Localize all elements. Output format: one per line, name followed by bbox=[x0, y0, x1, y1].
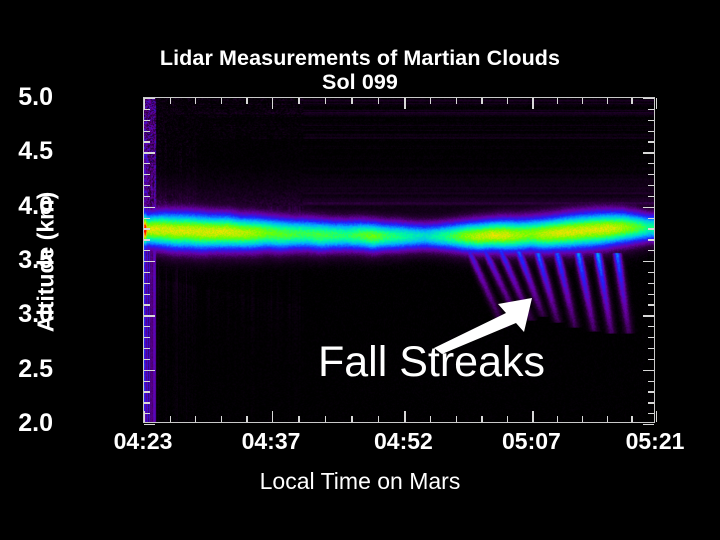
axis-tick bbox=[456, 416, 457, 422]
axis-tick bbox=[607, 98, 608, 104]
y-tick-label: 4.5 bbox=[18, 139, 53, 164]
axis-tick bbox=[648, 294, 654, 295]
axis-tick bbox=[221, 416, 222, 422]
axis-tick bbox=[195, 416, 196, 422]
axis-tick bbox=[246, 98, 247, 104]
axis-tick bbox=[656, 411, 657, 422]
axis-tick bbox=[456, 98, 457, 104]
axis-tick bbox=[144, 261, 155, 262]
axis-tick bbox=[144, 163, 150, 164]
figure-canvas: Lidar Measurements of Martian Clouds Sol… bbox=[0, 0, 720, 540]
axis-tick bbox=[144, 359, 150, 360]
axis-tick bbox=[557, 98, 558, 104]
axis-tick bbox=[643, 370, 654, 371]
axis-tick bbox=[648, 196, 654, 197]
axis-tick bbox=[144, 207, 155, 208]
axis-tick bbox=[648, 218, 654, 219]
axis-tick bbox=[144, 272, 150, 273]
axis-tick bbox=[656, 98, 657, 109]
axis-tick bbox=[582, 416, 583, 422]
fall-streaks-annotation-label: Fall Streaks bbox=[318, 341, 545, 384]
axis-tick bbox=[481, 416, 482, 422]
axis-tick bbox=[648, 413, 654, 414]
axis-tick bbox=[325, 416, 326, 422]
x-tick-label: 04:52 bbox=[343, 430, 463, 453]
axis-tick bbox=[272, 98, 273, 109]
axis-tick bbox=[298, 416, 299, 422]
axis-tick bbox=[144, 337, 150, 338]
y-tick-label: 4.0 bbox=[18, 194, 53, 219]
axis-tick bbox=[246, 416, 247, 422]
axis-tick bbox=[648, 402, 654, 403]
axis-tick bbox=[144, 131, 150, 132]
axis-tick bbox=[557, 416, 558, 422]
axis-tick bbox=[144, 218, 150, 219]
axis-tick bbox=[532, 98, 533, 109]
axis-tick bbox=[582, 98, 583, 104]
axis-tick bbox=[648, 272, 654, 273]
axis-tick bbox=[643, 152, 654, 153]
axis-tick bbox=[607, 416, 608, 422]
axis-tick bbox=[144, 228, 150, 229]
x-tick-label: 04:37 bbox=[211, 430, 331, 453]
axis-tick bbox=[144, 326, 150, 327]
axis-tick bbox=[144, 196, 150, 197]
axis-tick bbox=[404, 411, 405, 422]
axis-tick bbox=[144, 315, 155, 316]
axis-tick bbox=[144, 381, 150, 382]
axis-tick bbox=[144, 424, 155, 425]
axis-tick bbox=[631, 98, 632, 104]
axis-tick bbox=[378, 98, 379, 104]
axis-tick bbox=[643, 98, 654, 99]
axis-tick bbox=[144, 283, 150, 284]
axis-tick bbox=[532, 411, 533, 422]
axis-tick bbox=[144, 370, 155, 371]
x-tick-label: 04:23 bbox=[83, 430, 203, 453]
axis-tick bbox=[351, 416, 352, 422]
axis-tick bbox=[144, 391, 150, 392]
axis-tick bbox=[648, 381, 654, 382]
axis-tick bbox=[648, 337, 654, 338]
axis-tick bbox=[643, 207, 654, 208]
axis-tick bbox=[144, 402, 150, 403]
axis-tick bbox=[144, 250, 150, 251]
axis-tick bbox=[144, 239, 150, 240]
axis-tick bbox=[648, 359, 654, 360]
axis-tick bbox=[481, 98, 482, 104]
y-tick-label: 2.5 bbox=[18, 357, 53, 382]
x-tick-label: 05:21 bbox=[595, 430, 715, 453]
axis-tick bbox=[195, 98, 196, 104]
axis-tick bbox=[507, 416, 508, 422]
axis-tick bbox=[144, 98, 145, 109]
axis-tick bbox=[144, 304, 150, 305]
axis-tick bbox=[144, 348, 150, 349]
axis-tick bbox=[170, 98, 171, 104]
axis-tick bbox=[507, 98, 508, 104]
chart-title-sub: Sol 099 bbox=[0, 70, 720, 95]
x-tick-label: 05:07 bbox=[471, 430, 591, 453]
axis-tick bbox=[648, 326, 654, 327]
axis-tick bbox=[378, 416, 379, 422]
axis-tick bbox=[144, 120, 150, 121]
y-tick-label: 5.0 bbox=[18, 85, 53, 110]
axis-tick bbox=[144, 109, 150, 110]
x-axis-title: Local Time on Mars bbox=[0, 468, 720, 495]
axis-tick bbox=[648, 304, 654, 305]
axis-tick bbox=[272, 411, 273, 422]
axis-tick bbox=[170, 416, 171, 422]
axis-tick bbox=[221, 98, 222, 104]
axis-tick bbox=[648, 141, 654, 142]
axis-tick bbox=[430, 416, 431, 422]
axis-tick bbox=[648, 163, 654, 164]
axis-tick bbox=[144, 98, 155, 99]
axis-tick bbox=[648, 109, 654, 110]
axis-tick bbox=[648, 228, 654, 229]
axis-tick bbox=[648, 120, 654, 121]
axis-tick bbox=[144, 185, 150, 186]
axis-tick bbox=[144, 141, 150, 142]
axis-tick bbox=[144, 411, 145, 422]
axis-tick bbox=[144, 152, 155, 153]
axis-tick bbox=[648, 250, 654, 251]
axis-tick bbox=[144, 294, 150, 295]
y-tick-label: 3.0 bbox=[18, 302, 53, 327]
chart-title-main: Lidar Measurements of Martian Clouds bbox=[0, 46, 720, 71]
axis-tick bbox=[298, 98, 299, 104]
axis-tick bbox=[643, 315, 654, 316]
axis-tick bbox=[643, 261, 654, 262]
axis-tick bbox=[144, 174, 150, 175]
y-tick-label: 3.5 bbox=[18, 248, 53, 273]
axis-tick bbox=[430, 98, 431, 104]
axis-tick bbox=[648, 348, 654, 349]
y-tick-label: 2.0 bbox=[18, 411, 53, 436]
axis-tick bbox=[648, 185, 654, 186]
axis-tick bbox=[643, 424, 654, 425]
axis-tick bbox=[648, 283, 654, 284]
axis-tick bbox=[648, 391, 654, 392]
axis-tick bbox=[325, 98, 326, 104]
axis-tick bbox=[648, 174, 654, 175]
axis-tick bbox=[648, 131, 654, 132]
axis-tick bbox=[648, 239, 654, 240]
axis-tick bbox=[351, 98, 352, 104]
axis-tick bbox=[404, 98, 405, 109]
axis-tick bbox=[631, 416, 632, 422]
